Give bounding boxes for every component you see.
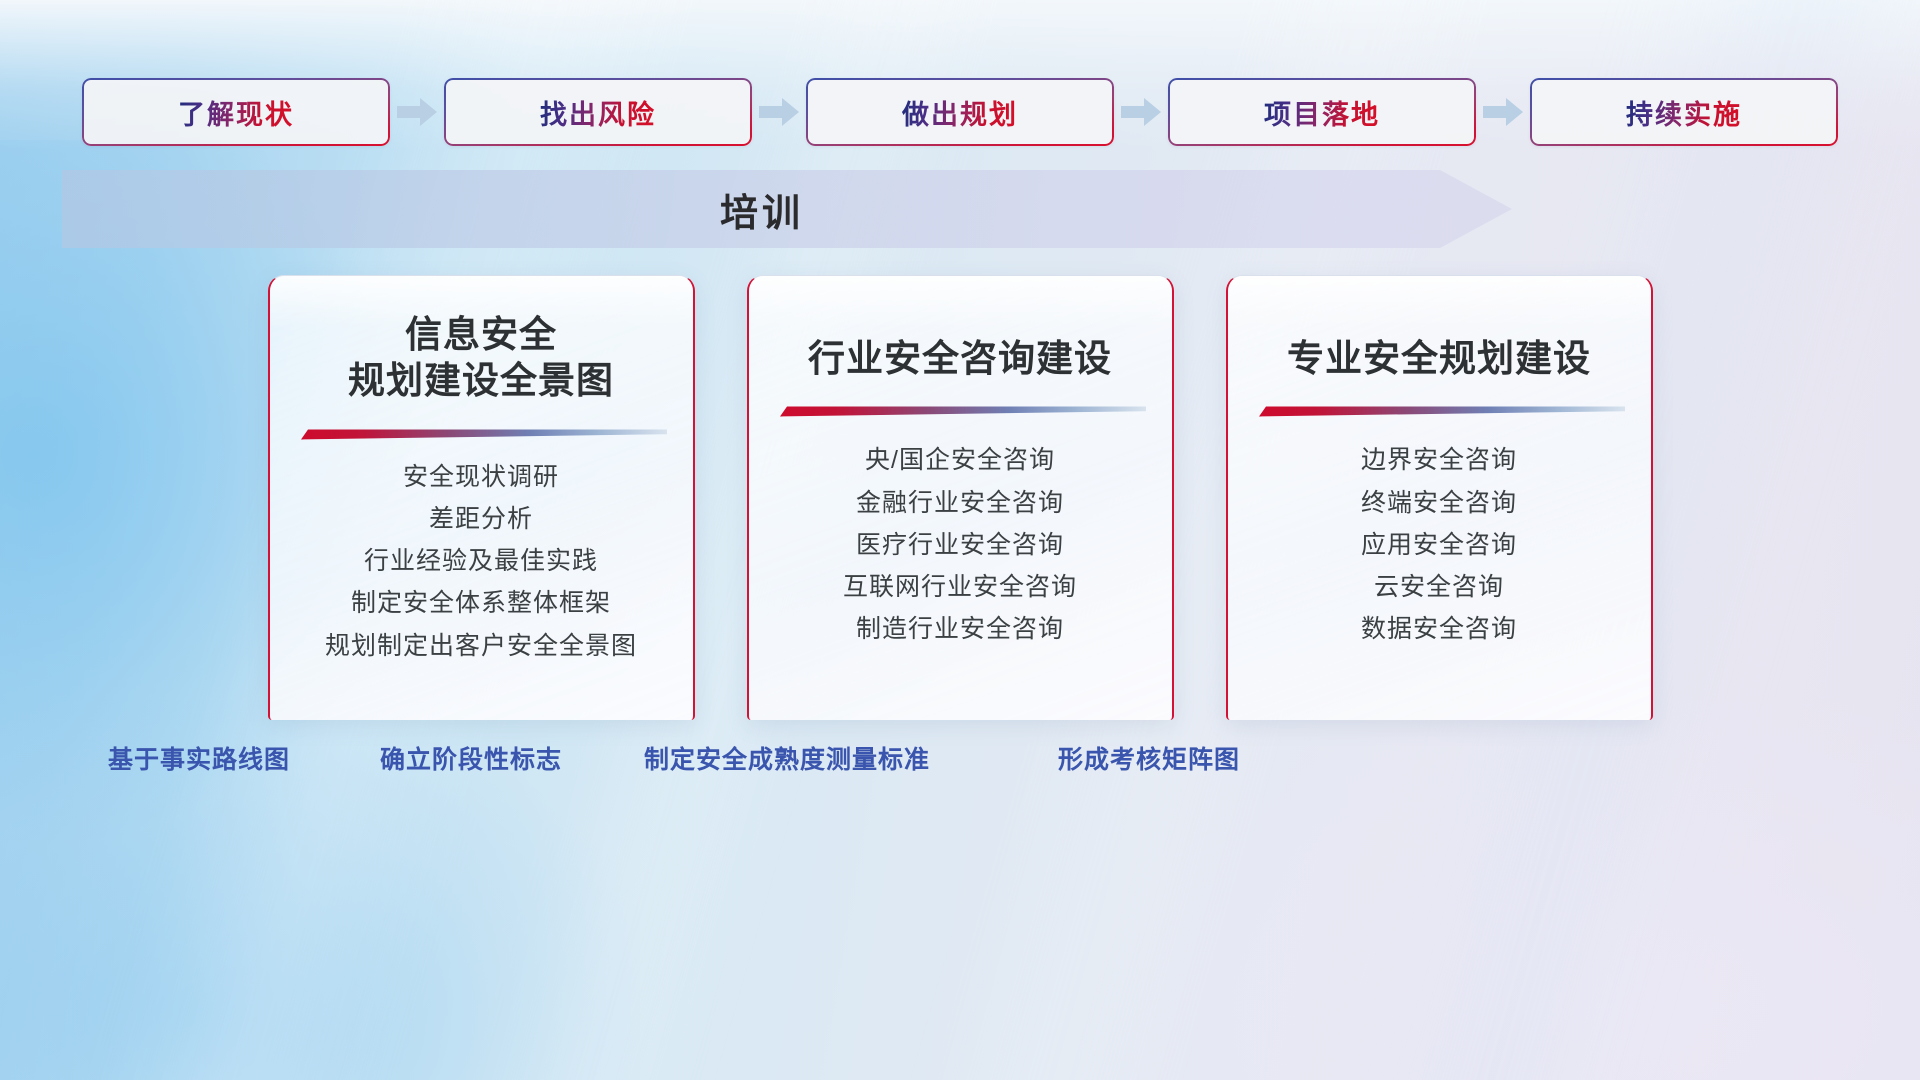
process-step-1[interactable]: 了解现状 [82,78,390,146]
list-item: 医疗行业安全咨询 [856,530,1064,561]
list-item: 边界安全咨询 [1361,445,1517,476]
service-card-list: 安全现状调研差距分析行业经验及最佳实践制定安全体系整体框架规划制定出客户安全全景… [270,462,693,662]
service-card-list: 央/国企安全咨询金融行业安全咨询医疗行业安全咨询互联网行业安全咨询制造行业安全咨… [749,445,1172,645]
service-card-title: 行业安全咨询建设 [808,336,1112,382]
step-arrow-icon [752,78,806,146]
slide-stage: 了解现状找出风险做出规划项目落地持续实施 培训 信息安全 规划建设全景图安全现状… [0,0,1920,1080]
training-banner-label: 培训 [62,170,1462,248]
list-item: 制造行业安全咨询 [856,614,1064,645]
process-step-label: 找出风险 [540,93,656,132]
service-card-title: 专业安全规划建设 [1287,336,1591,382]
step-arrow-icon [390,78,444,146]
service-card-list: 边界安全咨询终端安全咨询应用安全咨询云安全咨询数据安全咨询 [1228,445,1651,645]
list-item: 规划制定出客户安全全景图 [325,631,637,662]
service-card-2[interactable]: 行业安全咨询建设央/国企安全咨询金融行业安全咨询医疗行业安全咨询互联网行业安全咨… [747,275,1174,720]
caption-row: 基于事实路线图确立阶段性标志制定安全成熟度测量标准形成考核矩阵图 [0,740,1920,792]
list-item: 终端安全咨询 [1361,488,1517,519]
process-step-2[interactable]: 找出风险 [444,78,752,146]
list-item: 行业经验及最佳实践 [364,546,598,577]
list-item: 数据安全咨询 [1361,614,1517,645]
service-card-title: 信息安全 规划建设全景图 [348,312,614,405]
step-arrow-icon [1476,78,1530,146]
service-card-3[interactable]: 专业安全规划建设边界安全咨询终端安全咨询应用安全咨询云安全咨询数据安全咨询 [1226,275,1653,720]
list-item: 云安全咨询 [1374,572,1504,603]
process-step-label: 做出规划 [902,93,1018,132]
process-step-4[interactable]: 项目落地 [1168,78,1476,146]
step-arrow-icon [1114,78,1168,146]
process-step-label: 项目落地 [1264,93,1380,132]
card-divider [1253,406,1625,417]
process-step-3[interactable]: 做出规划 [806,78,1114,146]
training-banner: 培训 [62,170,1512,248]
caption-4: 形成考核矩阵图 [1058,740,1240,776]
list-item: 制定安全体系整体框架 [351,588,611,619]
service-card-row: 信息安全 规划建设全景图安全现状调研差距分析行业经验及最佳实践制定安全体系整体框… [0,275,1920,720]
caption-3: 制定安全成熟度测量标准 [644,740,930,776]
list-item: 安全现状调研 [403,462,559,493]
list-item: 央/国企安全咨询 [865,445,1055,476]
process-step-label: 了解现状 [178,93,294,132]
process-step-label: 持续实施 [1626,93,1742,132]
caption-2: 确立阶段性标志 [380,740,562,776]
process-step-row: 了解现状找出风险做出规划项目落地持续实施 [0,78,1920,146]
list-item: 互联网行业安全咨询 [843,572,1077,603]
card-divider [295,429,667,440]
list-item: 应用安全咨询 [1361,530,1517,561]
card-divider [774,406,1146,417]
process-step-5[interactable]: 持续实施 [1530,78,1838,146]
service-card-1[interactable]: 信息安全 规划建设全景图安全现状调研差距分析行业经验及最佳实践制定安全体系整体框… [268,275,695,720]
list-item: 金融行业安全咨询 [856,488,1064,519]
caption-1: 基于事实路线图 [108,740,290,776]
list-item: 差距分析 [429,504,533,535]
